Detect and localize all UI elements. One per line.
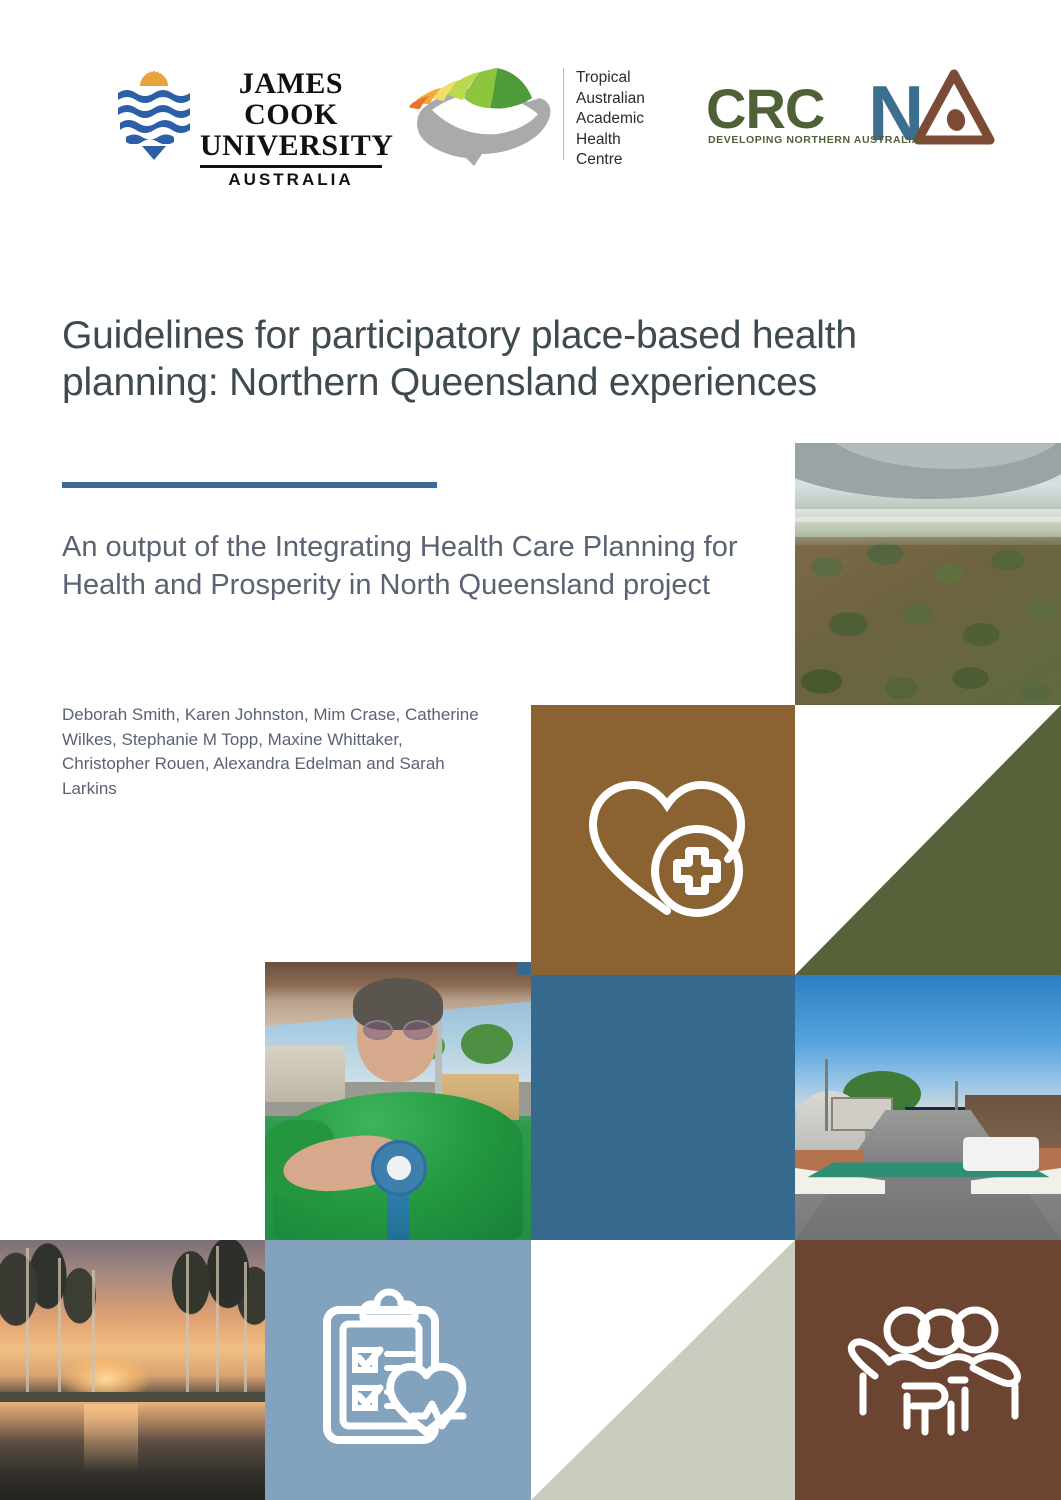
sunset-trunk	[244, 1262, 247, 1400]
community-people-tile	[795, 1240, 1061, 1500]
page-title: Guidelines for participatory place-based…	[62, 312, 882, 406]
aerial-horizon-line	[795, 517, 1061, 522]
main-street-photo	[795, 975, 1061, 1240]
green-triangle-tile	[795, 705, 1061, 975]
river-sunset-photo	[0, 1240, 265, 1500]
sunset-treeline	[0, 1240, 265, 1404]
community-member-photo	[265, 962, 531, 1240]
sunset-trunk	[26, 1248, 29, 1398]
three-people-icon	[833, 1300, 1045, 1440]
street-white-ute	[963, 1137, 1039, 1171]
sunset-trunk	[58, 1258, 61, 1400]
photo-blue-rosette	[371, 1140, 427, 1196]
green-triangle-shape	[795, 705, 1061, 975]
sunset-trunk	[216, 1246, 219, 1400]
aerial-township-houses	[795, 509, 1061, 545]
heart-care-tile	[531, 705, 795, 975]
beige-triangle-tile	[531, 1240, 795, 1500]
steel-blue-tile	[531, 975, 795, 1240]
aerial-township-photo	[795, 443, 1061, 705]
title-rule	[62, 482, 437, 488]
heart-plus-icon	[579, 763, 747, 923]
author-list: Deborah Smith, Karen Johnston, Mim Crase…	[62, 703, 482, 802]
health-checklist-tile	[265, 1240, 531, 1500]
street-power-pole-left	[825, 1059, 828, 1131]
beige-triangle-shape	[531, 1240, 795, 1500]
clipboard-heart-icon	[317, 1288, 489, 1456]
aerial-bushland	[795, 537, 1061, 705]
page-subtitle: An output of the Integrating Health Care…	[62, 528, 762, 605]
sunset-reflection	[84, 1404, 138, 1472]
photo-sunglasses	[363, 1020, 433, 1040]
steel-blue-tile-tab	[518, 962, 531, 975]
photo-tree	[461, 1024, 513, 1064]
sunset-trunk	[92, 1270, 95, 1400]
sunset-trunk	[186, 1254, 189, 1400]
photo-parked-trailer	[265, 1046, 345, 1102]
